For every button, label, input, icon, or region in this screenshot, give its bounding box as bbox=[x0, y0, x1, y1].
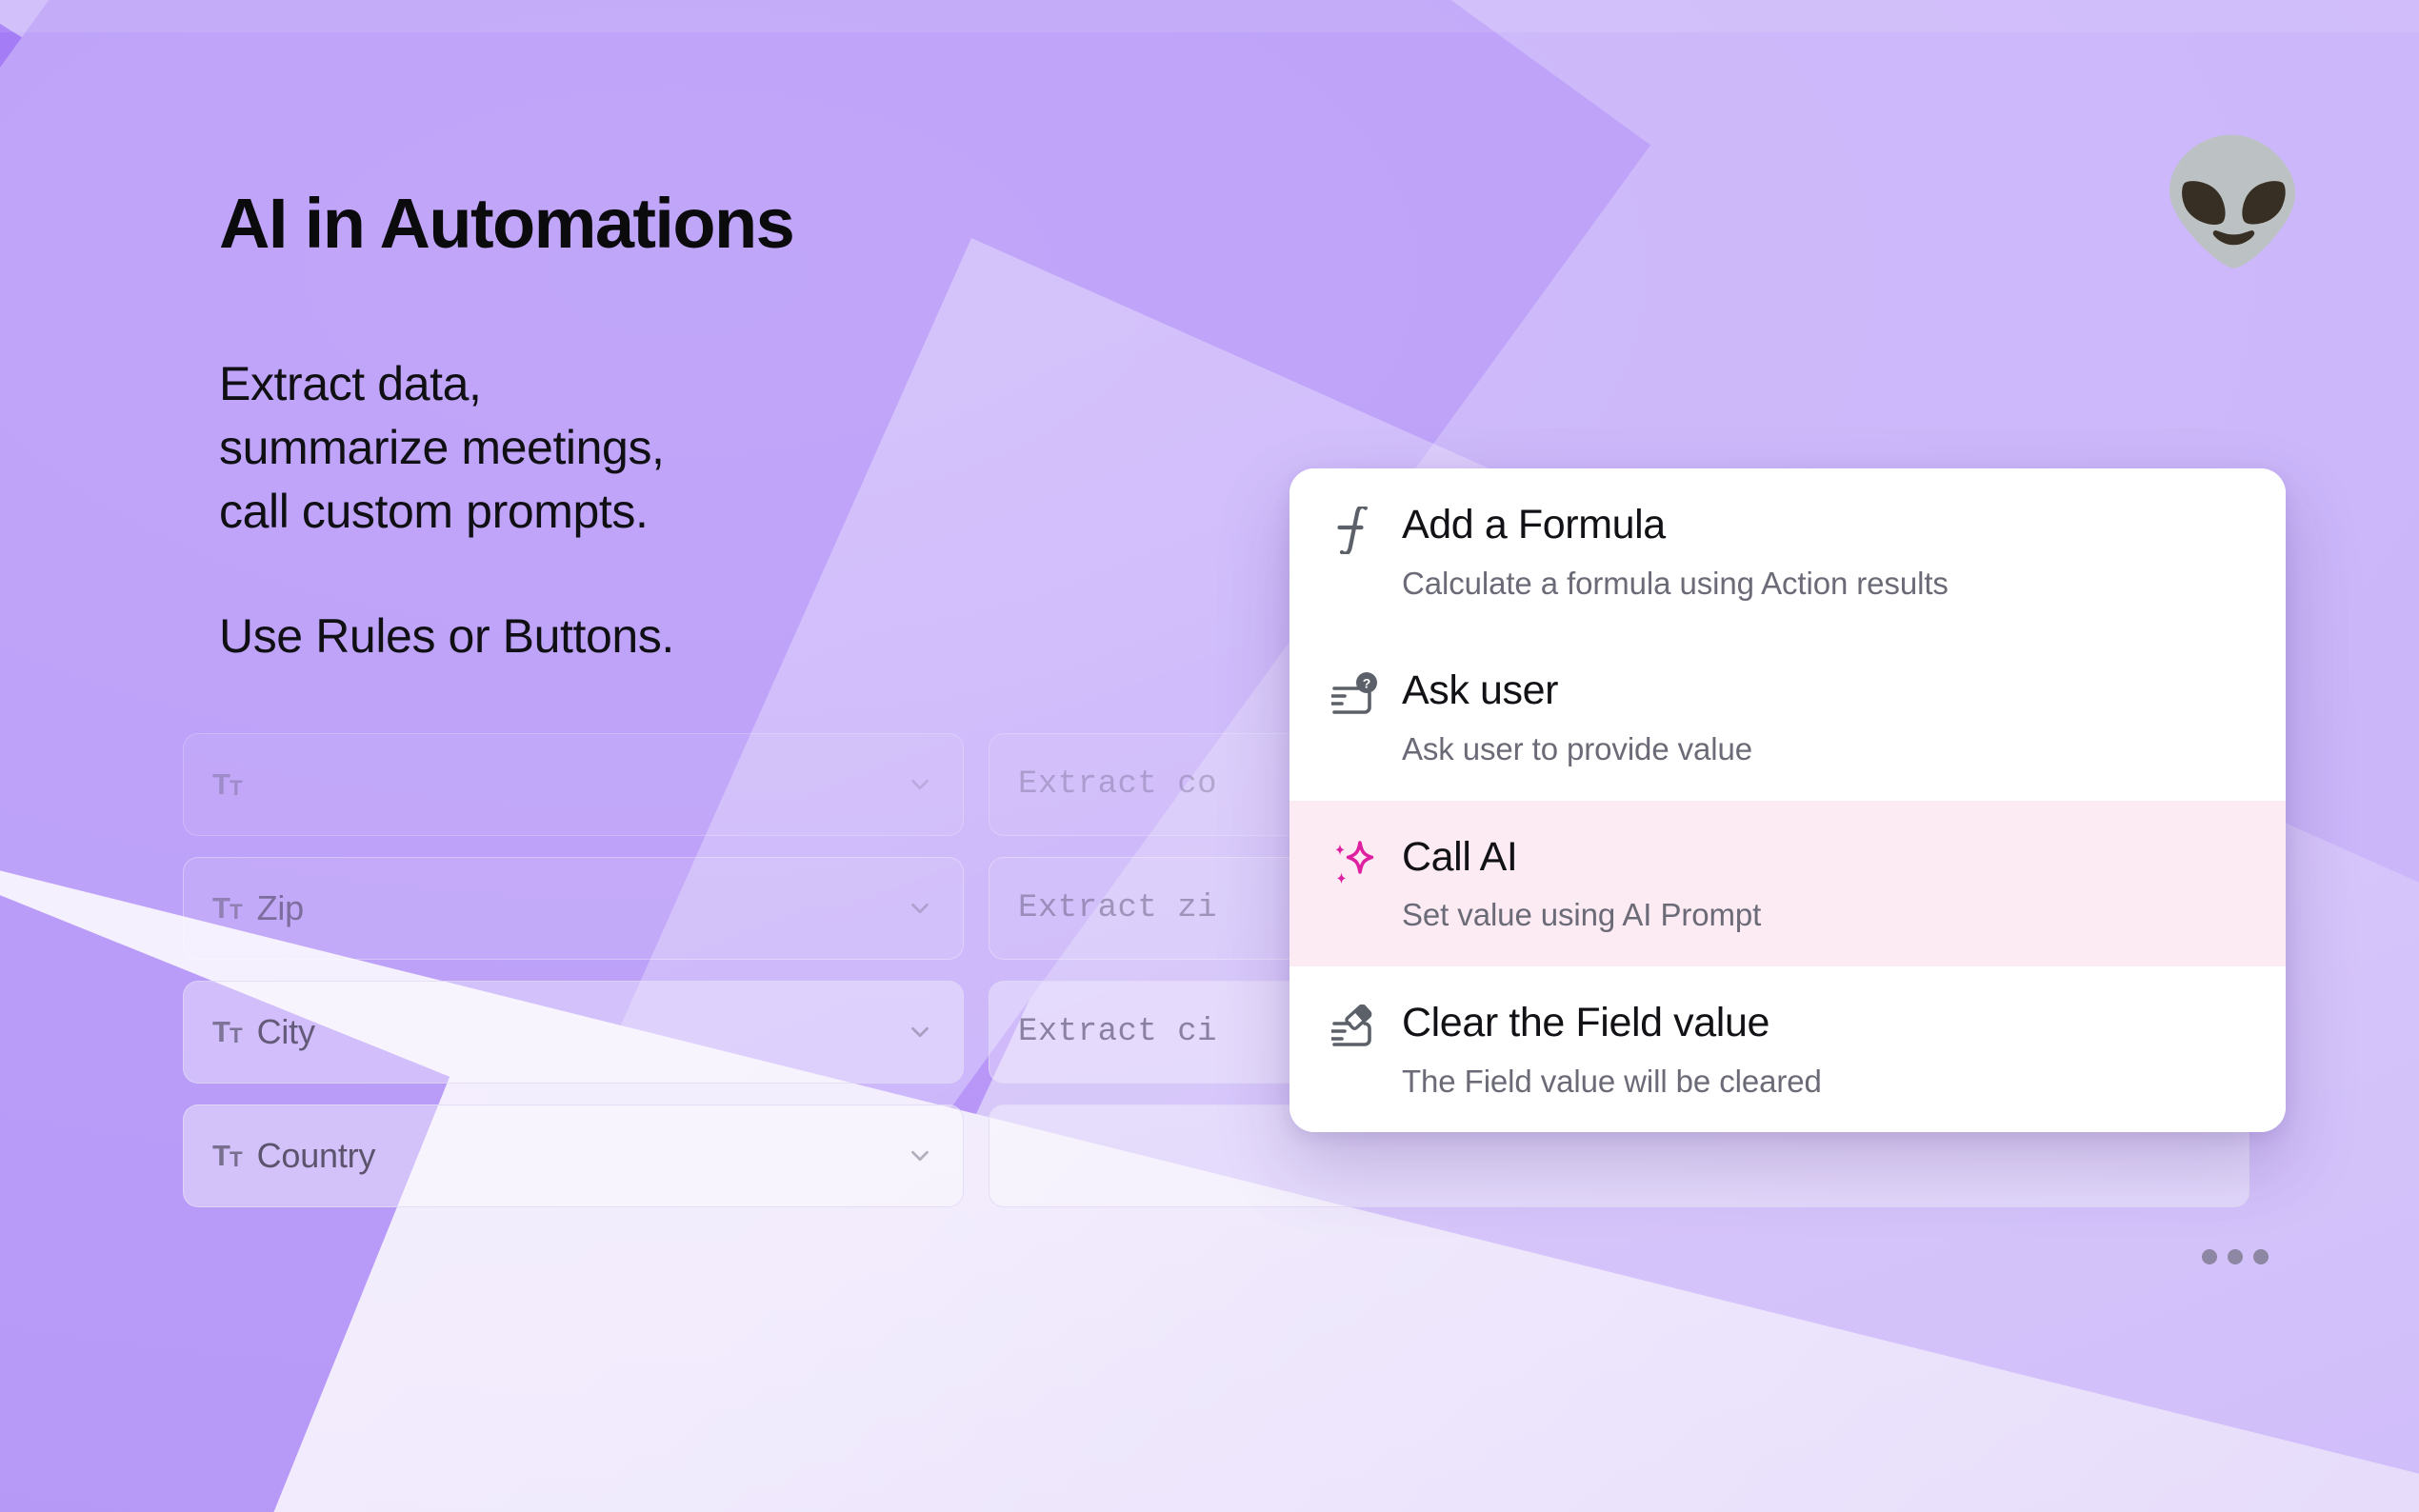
field-name-select[interactable]: TT Country bbox=[183, 1104, 964, 1207]
text-type-icon: TT bbox=[212, 1015, 242, 1049]
ask-user-question-icon: ? bbox=[1331, 666, 1390, 720]
hero-copy: AI in Automations Extract data, summariz… bbox=[219, 187, 793, 668]
menu-item-title: Ask user bbox=[1402, 667, 1558, 713]
field-value-text: Extract zi bbox=[1018, 890, 1217, 926]
menu-item-clear-the-field-value[interactable]: Clear the Field value The Field value wi… bbox=[1289, 966, 2286, 1132]
chevron-down-icon[interactable] bbox=[906, 770, 934, 799]
hero-line: Use Rules or Buttons. bbox=[219, 605, 793, 668]
ellipsis-dot bbox=[2202, 1249, 2217, 1264]
field-value-text: Extract co bbox=[1018, 766, 1217, 803]
page-title: AI in Automations bbox=[219, 187, 793, 261]
menu-item-ask-user[interactable]: ? Ask user Ask user to provide value bbox=[1289, 634, 2286, 800]
menu-item-description: Calculate a formula using Action results bbox=[1402, 565, 1949, 603]
menu-item-title: Clear the Field value bbox=[1402, 1000, 1769, 1045]
formula-function-icon bbox=[1331, 501, 1390, 554]
field-name-select[interactable]: TT City bbox=[183, 981, 964, 1084]
text-type-icon: TT bbox=[212, 1139, 242, 1173]
menu-item-add-a-formula[interactable]: Add a Formula Calculate a formula using … bbox=[1289, 468, 2286, 634]
ellipsis-dot bbox=[2228, 1249, 2243, 1264]
chevron-down-icon[interactable] bbox=[906, 1018, 934, 1046]
ellipsis-dot bbox=[2253, 1249, 2269, 1264]
field-value-text: Extract ci bbox=[1018, 1014, 1217, 1050]
field-name-select[interactable]: TT bbox=[183, 733, 964, 836]
hero-line: call custom prompts. bbox=[219, 480, 793, 544]
ellipsis-horizontal-icon[interactable] bbox=[2192, 1240, 2278, 1274]
field-name-label: Country bbox=[257, 1136, 376, 1176]
menu-item-call-ai[interactable]: Call AI Set value using AI Prompt bbox=[1289, 801, 2286, 966]
svg-text:?: ? bbox=[1363, 676, 1371, 691]
field-name-label: City bbox=[257, 1012, 315, 1052]
menu-item-description: The Field value will be cleared bbox=[1402, 1063, 1822, 1101]
menu-item-description: Ask user to provide value bbox=[1402, 730, 1752, 768]
menu-item-description: Set value using AI Prompt bbox=[1402, 896, 1761, 934]
eraser-clear-field-icon bbox=[1331, 999, 1390, 1052]
hero-paragraph-2: Use Rules or Buttons. bbox=[219, 605, 793, 668]
hero-line: Extract data, bbox=[219, 352, 793, 416]
background-top-strip bbox=[0, 0, 2419, 32]
field-name-label: Zip bbox=[257, 888, 304, 928]
slide-canvas: TT Extract co TT Zip Extract zi bbox=[0, 0, 2419, 1512]
hero-paragraph-1: Extract data, summarize meetings, call c… bbox=[219, 352, 793, 544]
action-type-dropdown-menu[interactable]: Add a Formula Calculate a formula using … bbox=[1289, 468, 2286, 1132]
menu-item-title: Add a Formula bbox=[1402, 502, 1666, 547]
sparkle-ai-icon bbox=[1331, 833, 1390, 892]
text-type-icon: TT bbox=[212, 891, 242, 925]
field-name-select[interactable]: TT Zip bbox=[183, 857, 964, 960]
alien-face-emoji: 👽 bbox=[2159, 143, 2309, 263]
text-type-icon: TT bbox=[212, 767, 242, 802]
menu-item-title: Call AI bbox=[1402, 834, 1517, 880]
chevron-down-icon[interactable] bbox=[906, 1142, 934, 1170]
hero-line: summarize meetings, bbox=[219, 416, 793, 480]
chevron-down-icon[interactable] bbox=[906, 894, 934, 923]
